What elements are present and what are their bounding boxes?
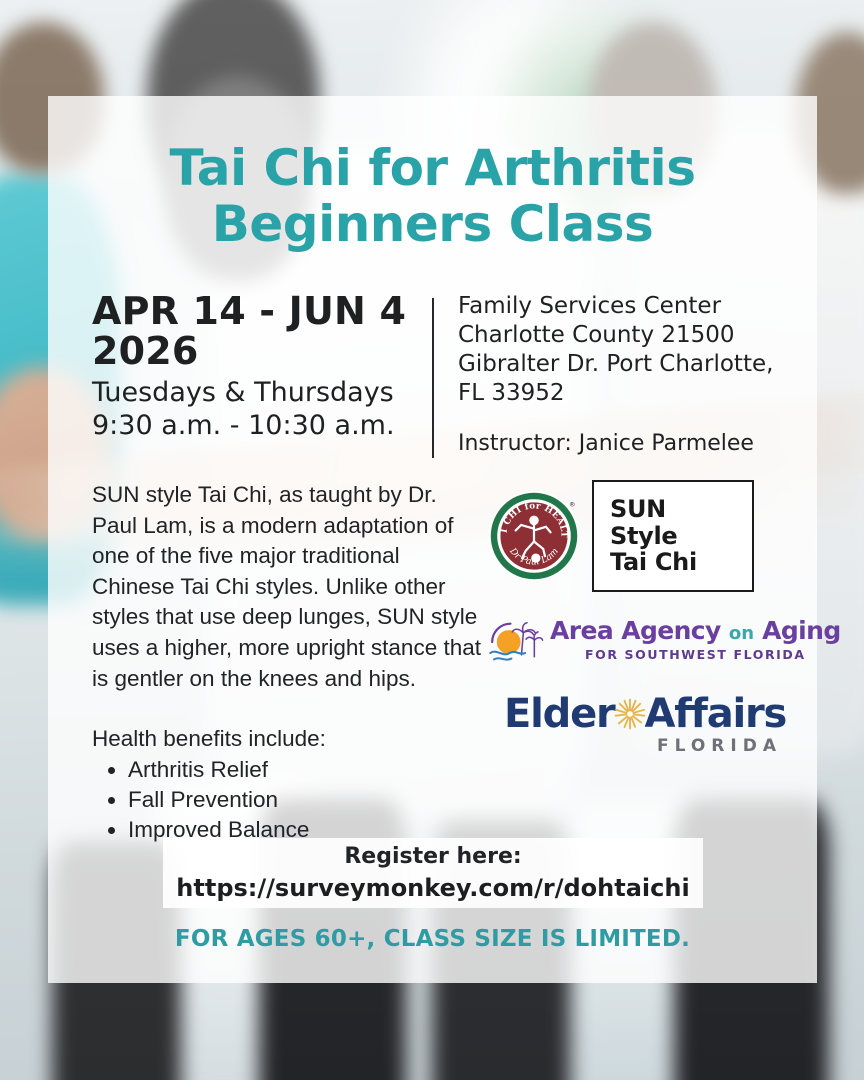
elder-affairs-florida-logo: Elder (504, 694, 788, 756)
location-column: Family Services Center Charlotte County … (434, 292, 782, 457)
benefits-heading: Health benefits include: (92, 724, 482, 753)
benefits-list: Arthritis Relief Fall Prevention Improve… (92, 755, 482, 845)
svg-text:®: ® (569, 501, 575, 509)
title-line-2: Beginners Class (48, 196, 817, 252)
area-agency-wordmark: Area Agency on Aging FOR SOUTHWEST FLORI… (550, 618, 841, 664)
register-band: Register here: https://surveymonkey.com/… (163, 838, 703, 908)
description-column: SUN style Tai Chi, as taught by Dr. Paul… (92, 480, 482, 845)
schedule-location-row: APR 14 - JUN 4 2026 Tuesdays & Thursdays… (92, 292, 782, 458)
description-paragraph: SUN style Tai Chi, as taught by Dr. Paul… (92, 480, 482, 694)
schedule-column: APR 14 - JUN 4 2026 Tuesdays & Thursdays… (92, 292, 432, 443)
sun-style-line-1: SUN (610, 496, 697, 522)
elder-affairs-subtitle: FLORIDA (504, 736, 788, 756)
aaa-word-1: Area Agency (550, 616, 721, 645)
aaa-word-2: Aging (762, 616, 841, 645)
schedule-days-time: Tuesdays & Thursdays 9:30 a.m. - 10:30 a… (92, 377, 418, 443)
sun-style-tai-chi-logo: SUN Style Tai Chi (592, 480, 754, 592)
aaa-tagline: FOR SOUTHWEST FLORIDA (550, 647, 841, 662)
logos-column: TAI CHI for HEALTH Dr Paul Lam (488, 480, 788, 756)
elder-affairs-word-2: Affairs (645, 694, 787, 734)
schedule-days: Tuesdays & Thursdays (92, 377, 418, 410)
schedule-dates: APR 14 - JUN 4 2026 (92, 292, 418, 371)
sunburst-icon (613, 697, 647, 731)
aaa-word-on: on (729, 623, 754, 644)
location-address: Family Services Center Charlotte County … (458, 292, 782, 408)
title-line-1: Tai Chi for Arthritis (170, 139, 696, 197)
register-url[interactable]: https://surveymonkey.com/r/dohtaichi (176, 873, 689, 903)
instructor-name: Instructor: Janice Parmelee (458, 430, 782, 458)
elder-affairs-word-1: Elder (504, 694, 615, 734)
list-item: Fall Prevention (128, 785, 482, 815)
logo-row-primary: TAI CHI for HEALTH Dr Paul Lam (488, 480, 788, 592)
sun-palm-waves-icon (488, 620, 544, 664)
register-heading: Register here: (344, 843, 521, 871)
tai-chi-for-health-logo-icon: TAI CHI for HEALTH Dr Paul Lam (488, 490, 580, 582)
poster-flyer: Tai Chi for Arthritis Beginners Class AP… (0, 0, 864, 1080)
sun-style-line-3: Tai Chi (610, 549, 697, 575)
area-agency-on-aging-logo: Area Agency on Aging FOR SOUTHWEST FLORI… (488, 618, 788, 664)
ages-note: FOR AGES 60+, CLASS SIZE IS LIMITED. (48, 926, 817, 952)
sun-style-line-2: Style (610, 523, 697, 549)
schedule-time: 9:30 a.m. - 10:30 a.m. (92, 410, 418, 443)
list-item: Arthritis Relief (128, 755, 482, 785)
content-panel: Tai Chi for Arthritis Beginners Class AP… (48, 96, 817, 983)
page-title: Tai Chi for Arthritis Beginners Class (48, 140, 817, 252)
